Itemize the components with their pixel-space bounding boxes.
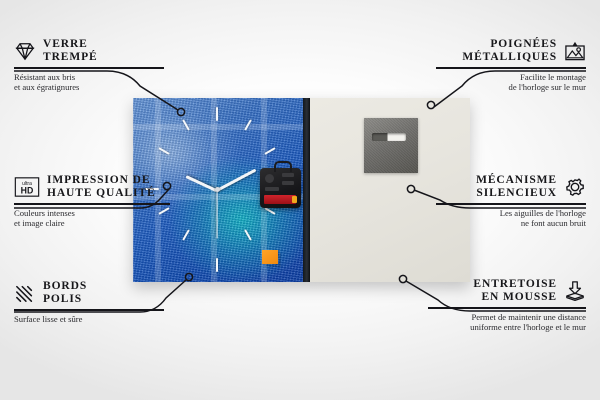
callout-desc-line: uniforme entre l'horloge et le mur [470, 322, 586, 332]
ultra-hd-icon: ultra HD [14, 177, 40, 197]
callout-desc-line: Couleurs intenses [14, 208, 75, 218]
mechanism-hanging-loop [274, 161, 292, 172]
callout-poignees-metalliques[interactable]: POIGNÉES MÉTALLIQUES Facilite le montage… [436, 38, 586, 92]
callout-title-line: ENTRETOISE [473, 278, 557, 290]
callout-verre-trempe[interactable]: VERRE TREMPÉ Résistant aux bris et aux é… [14, 38, 164, 92]
foam-spacer [262, 250, 278, 264]
callout-bords-polis[interactable]: BORDS POLIS Surface lisse et sûre [14, 280, 164, 324]
callout-desc-line: de l'horloge sur le mur [509, 82, 586, 92]
callout-title-line: SILENCIEUX [476, 187, 557, 199]
callout-desc-line: ne font aucun bruit [521, 218, 586, 228]
infographic-canvas: VERRE TREMPÉ Résistant aux bris et aux é… [0, 0, 600, 400]
callout-divider [436, 67, 586, 69]
callout-mecanisme-silencieux[interactable]: MÉCANISME SILENCIEUX Les aiguilles de l'… [436, 174, 586, 228]
callout-title-line: VERRE [43, 38, 88, 50]
mechanism-label [282, 181, 294, 185]
print-grid-line [133, 124, 303, 130]
tempered-glass-edge [303, 98, 310, 282]
callout-desc-line: Surface lisse et sûre [14, 314, 83, 324]
svg-text:HD: HD [21, 185, 34, 195]
callout-title-line: EN MOUSSE [481, 291, 557, 303]
callout-title-line: IMPRESSION DE [47, 174, 150, 186]
callout-title-line: TREMPÉ [43, 51, 98, 63]
callout-desc-line: Les aiguilles de l'horloge [500, 208, 586, 218]
clock-second-hand [216, 190, 217, 238]
callout-title-line: POIGNÉES [490, 38, 557, 50]
callout-title-line: HAUTE QUALITÉ [47, 187, 156, 199]
clock-tick-4 [244, 229, 252, 240]
clock-tick-6 [216, 258, 218, 272]
arrow-down-foam-icon [564, 281, 586, 301]
callout-impression-haute-qualite[interactable]: ultra HD IMPRESSION DE HAUTE QUALITÉ Cou… [14, 174, 170, 228]
mechanism-label [265, 187, 279, 191]
diamond-icon [14, 41, 36, 61]
diagonal-lines-icon [14, 283, 36, 303]
callout-divider [428, 307, 586, 309]
callout-title-line: BORDS [43, 280, 87, 292]
callout-entretoise-en-mousse[interactable]: ENTRETOISE EN MOUSSE Permet de maintenir… [428, 278, 586, 332]
gear-icon [564, 177, 586, 197]
mechanism-label [282, 173, 294, 177]
callout-desc-line: et aux égratignures [14, 82, 79, 92]
callout-desc-line: et image claire [14, 218, 65, 228]
callout-divider [14, 309, 164, 311]
callout-desc-line: Résistant aux bris [14, 72, 75, 82]
aa-battery [264, 195, 296, 204]
callout-divider [14, 67, 164, 69]
callout-desc-line: Facilite le montage [520, 72, 586, 82]
mechanism-dial [265, 174, 274, 183]
picture-frame-hanger-icon [564, 41, 586, 61]
callout-title-line: MÉTALLIQUES [462, 51, 557, 63]
callout-divider [14, 203, 170, 205]
callout-title-line: POLIS [43, 293, 82, 305]
metal-hanger-plate [364, 118, 418, 173]
clock-tick-8 [182, 229, 190, 240]
product-photo [133, 98, 470, 282]
hanger-keyhole-slot [372, 133, 406, 141]
clock-tick-12 [216, 107, 218, 121]
clock-mechanism [260, 168, 301, 208]
callout-title-line: MÉCANISME [476, 174, 557, 186]
clock-hub [215, 187, 220, 192]
clock-minute-hand [216, 169, 256, 193]
callout-desc-line: Permet de maintenir une distance [471, 312, 586, 322]
callout-divider [436, 203, 586, 205]
